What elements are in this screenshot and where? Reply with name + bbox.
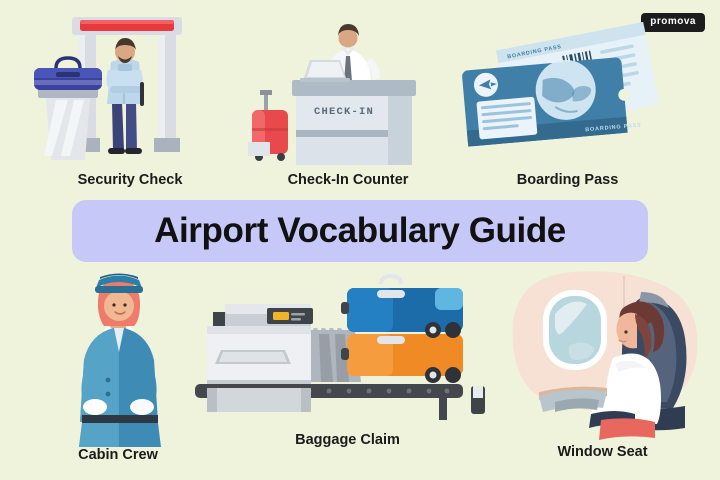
check-in-desk-icon: CHECK-IN <box>248 10 448 170</box>
poster-canvas: promova <box>0 0 720 480</box>
caption-window-seat: Window Seat <box>495 444 710 460</box>
title-banner: Airport Vocabulary Guide <box>72 200 648 262</box>
caption-check-in-counter: Check-In Counter <box>248 172 448 188</box>
baggage-conveyor-icon <box>195 272 500 427</box>
caption-cabin-crew: Cabin Crew <box>18 447 218 463</box>
checkin-sign-text: CHECK-IN <box>314 106 374 118</box>
page-title: Airport Vocabulary Guide <box>154 211 566 251</box>
item-check-in-counter: CHECK-IN Check-In Counter <box>248 10 448 200</box>
airplane-window-seat-icon <box>495 262 710 442</box>
item-security-check: Security Check <box>20 10 240 200</box>
flight-attendant-icon <box>18 272 218 447</box>
item-boarding-pass: BOARDING PASS <box>455 10 680 200</box>
item-baggage-claim: Baggage Claim <box>195 272 500 467</box>
caption-boarding-pass: Boarding Pass <box>455 172 680 188</box>
caption-baggage-claim: Baggage Claim <box>195 432 500 448</box>
metal-detector-icon <box>20 10 240 170</box>
item-cabin-crew: Cabin Crew <box>18 272 218 472</box>
boarding-pass-icon: BOARDING PASS <box>455 10 680 170</box>
item-window-seat: Window Seat <box>495 262 710 472</box>
caption-security-check: Security Check <box>20 172 240 188</box>
